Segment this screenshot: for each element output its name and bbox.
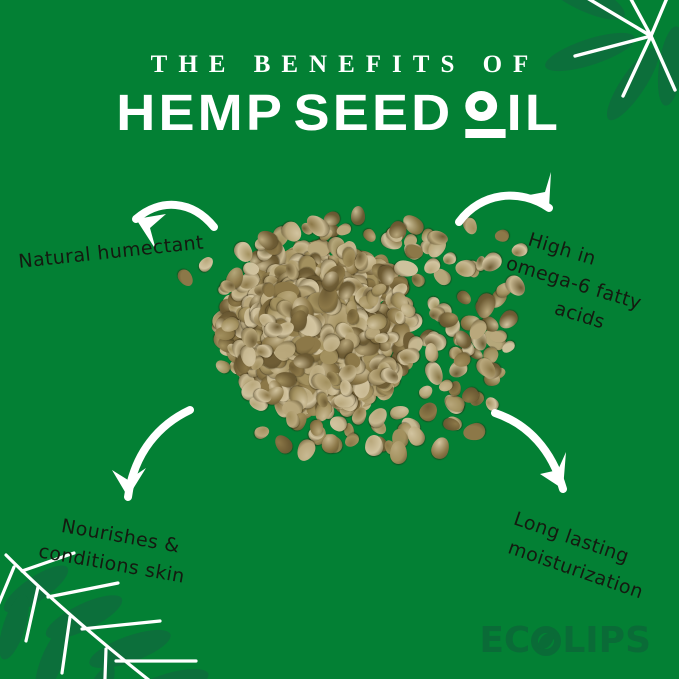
hemp-seed	[359, 316, 378, 339]
hemp-seed	[331, 335, 357, 362]
hemp-seed	[263, 331, 291, 357]
hemp-seed	[346, 301, 358, 317]
hemp-seed	[315, 261, 335, 278]
hemp-seed	[325, 377, 340, 396]
hemp-seed	[264, 320, 292, 345]
hemp-seed	[270, 299, 300, 331]
hemp-seed	[310, 342, 331, 366]
hemp-seed	[317, 270, 346, 301]
hemp-seed	[335, 247, 362, 273]
hemp-seed	[339, 329, 365, 350]
hemp-seed	[271, 341, 290, 360]
hemp-seed	[390, 364, 409, 378]
hemp-seed	[312, 252, 333, 270]
hemp-seed	[340, 240, 357, 261]
hemp-seed	[296, 299, 314, 321]
hemp-seed	[360, 312, 382, 334]
hemp-seed	[273, 297, 298, 321]
hemp-seed	[306, 333, 325, 354]
hemp-seed	[242, 296, 260, 320]
hemp-seed	[322, 277, 350, 303]
hemp-seed	[377, 367, 395, 391]
hemp-seed	[309, 282, 330, 306]
hemp-seed	[262, 375, 285, 401]
hemp-seed	[332, 314, 355, 332]
hemp-seed	[317, 322, 336, 344]
hemp-seed	[327, 301, 345, 321]
hemp-seed	[259, 331, 288, 357]
hemp-seed	[253, 358, 284, 388]
hemp-seed	[323, 319, 357, 350]
hemp-seed	[237, 300, 259, 324]
hemp-seed	[364, 311, 383, 335]
hemp-seed	[350, 380, 376, 404]
hemp-seed	[263, 290, 285, 313]
hemp-seed	[345, 334, 362, 350]
hemp-seed	[319, 318, 341, 336]
hemp-seed	[344, 299, 365, 320]
hemp-seed	[319, 296, 343, 318]
hemp-seed	[371, 331, 395, 356]
hemp-seed	[327, 372, 346, 389]
hemp-seed	[297, 274, 325, 297]
hemp-seed	[231, 239, 257, 266]
hemp-seed	[323, 270, 341, 286]
hemp-seed	[257, 269, 285, 300]
hemp-seed	[295, 304, 318, 332]
hemp-seed	[250, 304, 272, 324]
hemp-seed	[292, 364, 320, 391]
hemp-seed	[394, 310, 406, 325]
hemp-seed	[245, 377, 268, 395]
hemp-seed	[339, 322, 361, 345]
hemp-seed	[213, 358, 232, 376]
hemp-seed	[284, 266, 313, 298]
hemp-seed	[285, 358, 306, 379]
hemp-seed	[296, 341, 321, 366]
hemp-seed	[209, 304, 239, 334]
hemp-seed	[283, 381, 301, 396]
hemp-seed	[336, 312, 354, 331]
arrow-to-nourishes-icon	[128, 410, 190, 497]
hemp-seed	[232, 336, 248, 353]
hemp-seed	[321, 220, 341, 240]
hemp-seed	[224, 285, 250, 310]
hemp-seed	[315, 376, 335, 398]
hemp-seed	[298, 318, 324, 339]
hemp-seed	[289, 312, 314, 335]
hemp-seed	[350, 405, 370, 427]
hemp-seed	[290, 245, 312, 271]
hemp-seed	[294, 347, 321, 377]
hemp-seed	[238, 282, 259, 302]
hemp-seed	[360, 278, 379, 299]
hemp-seed	[294, 310, 308, 326]
title-block: THE BENEFITS OF HEMP SEED IL	[0, 52, 679, 139]
hemp-seed	[345, 386, 364, 402]
hemp-seed	[279, 334, 306, 363]
hemp-seed	[282, 317, 315, 350]
hemp-seed	[297, 264, 320, 291]
hemp-seed	[398, 309, 425, 335]
hemp-seed	[292, 287, 317, 313]
hemp-seed	[357, 318, 384, 346]
hemp-seed	[238, 273, 260, 298]
hemp-seed	[314, 384, 328, 401]
hemp-seed	[266, 304, 282, 324]
hemp-seed	[237, 330, 257, 347]
hemp-seed	[258, 341, 288, 372]
hemp-seed	[292, 332, 319, 358]
hemp-seed	[265, 328, 285, 348]
hemp-seed	[346, 353, 367, 375]
hemp-seed	[464, 260, 482, 280]
hemp-seed	[283, 246, 307, 269]
hemp-seed	[265, 297, 289, 318]
hemp-seed	[249, 352, 273, 376]
hemp-seed	[276, 353, 297, 377]
hemp-seed	[252, 285, 285, 315]
hemp-seed	[248, 283, 267, 304]
hemp-seed	[257, 351, 276, 369]
hemp-seed	[299, 341, 325, 370]
hemp-seed	[258, 315, 280, 338]
hemp-seed	[459, 385, 481, 406]
hemp-seed	[329, 322, 348, 343]
hemp-seed	[318, 280, 342, 309]
hemp-seed	[308, 317, 340, 345]
hemp-seed	[241, 335, 270, 365]
hemp-seed	[382, 360, 404, 385]
hemp-seed	[268, 346, 288, 362]
hemp-seed	[284, 333, 313, 359]
hemp-seed	[347, 277, 366, 294]
hemp-seed	[323, 275, 347, 300]
hemp-seed	[333, 391, 356, 410]
hemp-seed	[262, 314, 283, 331]
callout-nourishes-conditions-skin: Nourishes & conditions skin	[54, 512, 192, 591]
hemp-seed	[240, 337, 270, 365]
hemp-seed	[260, 333, 287, 354]
hemp-seed	[277, 345, 309, 375]
hemp-seed	[314, 347, 339, 368]
hemp-seed	[282, 285, 304, 309]
hemp-seed	[427, 229, 449, 246]
hemp-seed	[229, 282, 252, 304]
hemp-seed	[269, 304, 294, 327]
hemp-seed	[441, 251, 457, 266]
hemp-seed	[243, 284, 260, 305]
hemp-seed	[256, 355, 281, 383]
hemp-seed	[238, 291, 269, 321]
hemp-seed	[254, 227, 281, 253]
hemp-seed	[379, 360, 399, 376]
hemp-seed	[313, 343, 331, 358]
hemp-seed	[360, 274, 381, 294]
hemp-seed	[245, 333, 262, 351]
hemp-seed	[308, 364, 327, 390]
hemp-seed	[308, 288, 322, 306]
hemp-seed	[277, 273, 310, 304]
hemp-seed	[229, 316, 249, 338]
brand-suffix: LIPS	[562, 623, 651, 659]
hemp-seed	[257, 346, 277, 364]
hemp-seed	[387, 297, 409, 314]
hemp-seed	[347, 351, 369, 370]
hemp-seed	[390, 321, 412, 347]
hemp-seed	[252, 362, 270, 382]
hemp-seed	[272, 319, 288, 342]
hemp-seed	[321, 336, 340, 358]
hemp-seed	[340, 273, 370, 299]
hemp-seed	[352, 377, 370, 399]
hemp-seed	[245, 294, 265, 318]
hemp-seed	[210, 312, 236, 334]
hemp-seed	[330, 395, 348, 411]
hemp-seed	[274, 370, 297, 388]
hemp-seed	[366, 306, 388, 329]
hemp-seed	[327, 313, 352, 343]
hemp-seed	[334, 240, 356, 262]
hemp-seed	[382, 438, 399, 456]
hemp-seed	[348, 264, 369, 287]
hemp-seed	[303, 331, 324, 352]
hemp-seed	[251, 344, 268, 364]
hemp-seed	[311, 371, 331, 388]
hemp-seed	[256, 255, 282, 280]
hemp-seed	[288, 325, 310, 346]
hemp-seed	[375, 294, 402, 320]
hemp-seed	[310, 338, 328, 357]
ecolips-logo: EC LIPS	[479, 623, 651, 659]
hemp-seed	[257, 300, 283, 327]
hemp-seed	[344, 304, 363, 320]
hemp-seed	[236, 268, 262, 292]
hemp-seed	[332, 295, 355, 314]
hemp-seed	[382, 331, 400, 345]
hemp-seed	[255, 343, 273, 359]
hemp-seed	[398, 301, 416, 318]
hemp-seed	[307, 247, 330, 270]
hemp-seed	[281, 247, 304, 267]
hemp-seed	[328, 414, 349, 433]
hemp-seed	[266, 312, 281, 329]
kicker-text: THE BENEFITS OF	[0, 52, 679, 78]
hemp-seed	[343, 291, 357, 304]
hemp-seed	[261, 282, 277, 299]
hemp-seed	[354, 285, 378, 307]
hemp-seed	[272, 431, 297, 456]
hemp-seed	[292, 396, 322, 424]
hemp-seed	[253, 344, 267, 361]
hemp-seed	[394, 351, 410, 373]
hemp-seed	[319, 332, 342, 356]
hemp-seed	[286, 288, 306, 310]
hemp-seed	[220, 279, 237, 293]
hemp-seed	[336, 296, 365, 323]
hemp-seed	[297, 293, 319, 319]
hemp-seed	[345, 279, 363, 299]
hemp-seed	[319, 429, 346, 455]
hemp-seed	[319, 337, 350, 363]
hemp-seed	[316, 314, 344, 341]
hemp-seed	[296, 285, 312, 303]
hemp-seed	[307, 321, 325, 341]
hemp-seed	[240, 351, 270, 378]
hemp-seed	[359, 293, 379, 314]
hemp-seed	[249, 363, 271, 390]
hemp-seed	[317, 259, 334, 275]
hemp-seed	[382, 280, 406, 308]
hemp-seed	[293, 334, 323, 359]
hemp-seed	[362, 310, 384, 334]
hemp-seed	[330, 287, 352, 308]
hemp-seed	[284, 266, 309, 288]
hemp-seed	[270, 348, 294, 371]
hemp-seed	[370, 300, 394, 324]
hemp-seed	[304, 307, 324, 326]
hemp-seed	[331, 287, 355, 316]
hemp-seed	[320, 269, 343, 293]
hemp-seed	[314, 391, 330, 409]
hemp-seed	[338, 329, 366, 356]
hemp-seed	[345, 366, 372, 386]
hemp-seed	[324, 323, 351, 350]
hemp-seed	[265, 300, 282, 314]
hemp-seed	[253, 312, 275, 332]
hemp-seed	[300, 335, 330, 366]
hemp-seed	[348, 346, 364, 365]
hemp-seed	[278, 330, 312, 359]
hemp-seed	[354, 283, 372, 303]
hemp-seed	[285, 334, 304, 356]
hemp-seed	[304, 378, 333, 408]
hemp-seed	[272, 332, 292, 354]
hemp-seed	[322, 311, 348, 333]
hemp-seed	[280, 321, 305, 343]
hemp-seed	[302, 340, 320, 360]
hemp-seed	[253, 303, 270, 324]
hemp-seed	[247, 296, 276, 324]
hemp-seed	[447, 345, 465, 361]
hemp-seed	[270, 300, 298, 329]
hemp-seed	[288, 343, 314, 369]
hemp-seed	[290, 341, 305, 360]
hemp-seed	[286, 253, 309, 277]
hemp-seed	[460, 314, 481, 331]
hemp-seed	[308, 309, 323, 325]
hemp-seed	[369, 274, 391, 296]
hemp-seed	[295, 321, 319, 346]
hemp-seed	[264, 321, 283, 338]
hemp-seed	[234, 358, 261, 380]
hemp-seed	[263, 323, 277, 341]
hemp-seed	[352, 339, 371, 364]
hemp-seed	[319, 348, 350, 380]
hemp-seed	[332, 393, 360, 419]
hemp-seed	[284, 410, 301, 430]
hemp-seed	[360, 262, 378, 276]
hemp-seed	[394, 336, 421, 361]
hemp-seed	[306, 359, 326, 382]
hemp-seed	[350, 324, 367, 342]
hemp-seed	[263, 288, 287, 317]
hemp-seed	[329, 345, 348, 364]
hemp-seed	[322, 210, 341, 228]
hemp-seed	[324, 267, 357, 301]
hemp-seed	[253, 424, 271, 441]
hemp-seed	[265, 319, 286, 339]
hemp-seed	[293, 310, 310, 329]
hemp-seed	[307, 292, 338, 314]
hemp-seed	[355, 329, 373, 347]
hemp-seed	[335, 271, 350, 283]
hemp-seed	[257, 324, 286, 351]
hemp-seed	[371, 371, 393, 392]
hemp-seed	[278, 375, 302, 403]
hemp-seed	[306, 244, 329, 268]
hemp-seed	[301, 260, 325, 281]
hemp-seed	[335, 361, 360, 387]
hemp-seed	[215, 314, 238, 338]
hemp-seed	[282, 257, 308, 282]
hemp-seed	[306, 237, 332, 261]
hemp-seed	[256, 282, 272, 300]
hemp-seed	[339, 370, 357, 390]
hemp-seed	[321, 354, 345, 375]
hemp-seed	[367, 307, 391, 332]
hemp-seed	[312, 350, 338, 376]
hemp-seed	[357, 274, 374, 290]
hemp-seed	[385, 277, 412, 299]
hemp-seed	[277, 307, 304, 336]
hemp-seed	[326, 304, 346, 328]
hemp-seed	[344, 369, 366, 390]
hemp-seed	[299, 256, 325, 283]
hemp-seed	[306, 312, 335, 340]
hemp-seed	[318, 273, 350, 303]
hemp-seed	[423, 332, 448, 352]
hemp-seed	[300, 304, 323, 326]
hemp-seed	[406, 334, 426, 356]
hemp-seed	[327, 267, 350, 290]
hemp-seed	[321, 309, 343, 327]
hemp-seed	[292, 351, 314, 372]
hemp-seed	[315, 297, 341, 320]
hemp-seed	[304, 293, 325, 316]
hemp-seed	[416, 400, 440, 425]
hemp-seed	[222, 337, 250, 366]
hemp-seed	[308, 261, 327, 276]
hemp-seed	[285, 287, 301, 305]
hemp-seed	[364, 269, 386, 293]
hemp-seed	[323, 309, 354, 344]
hemp-seed	[227, 357, 246, 376]
hemp-seed	[301, 263, 325, 286]
hemp-seed	[303, 386, 320, 407]
callout-high-in-omega-6: High in omega-6 fatty acids	[502, 224, 654, 345]
hemp-seed	[264, 291, 285, 310]
hemp-seed	[367, 280, 389, 306]
hemp-seed	[312, 357, 327, 374]
leaf-in-o-icon	[531, 626, 561, 656]
hemp-seed	[275, 317, 292, 338]
hemp-seed	[295, 331, 321, 351]
hemp-seed	[232, 311, 254, 336]
hemp-seed	[283, 296, 306, 321]
hemp-seed	[254, 308, 283, 329]
hemp-seed	[291, 302, 321, 330]
